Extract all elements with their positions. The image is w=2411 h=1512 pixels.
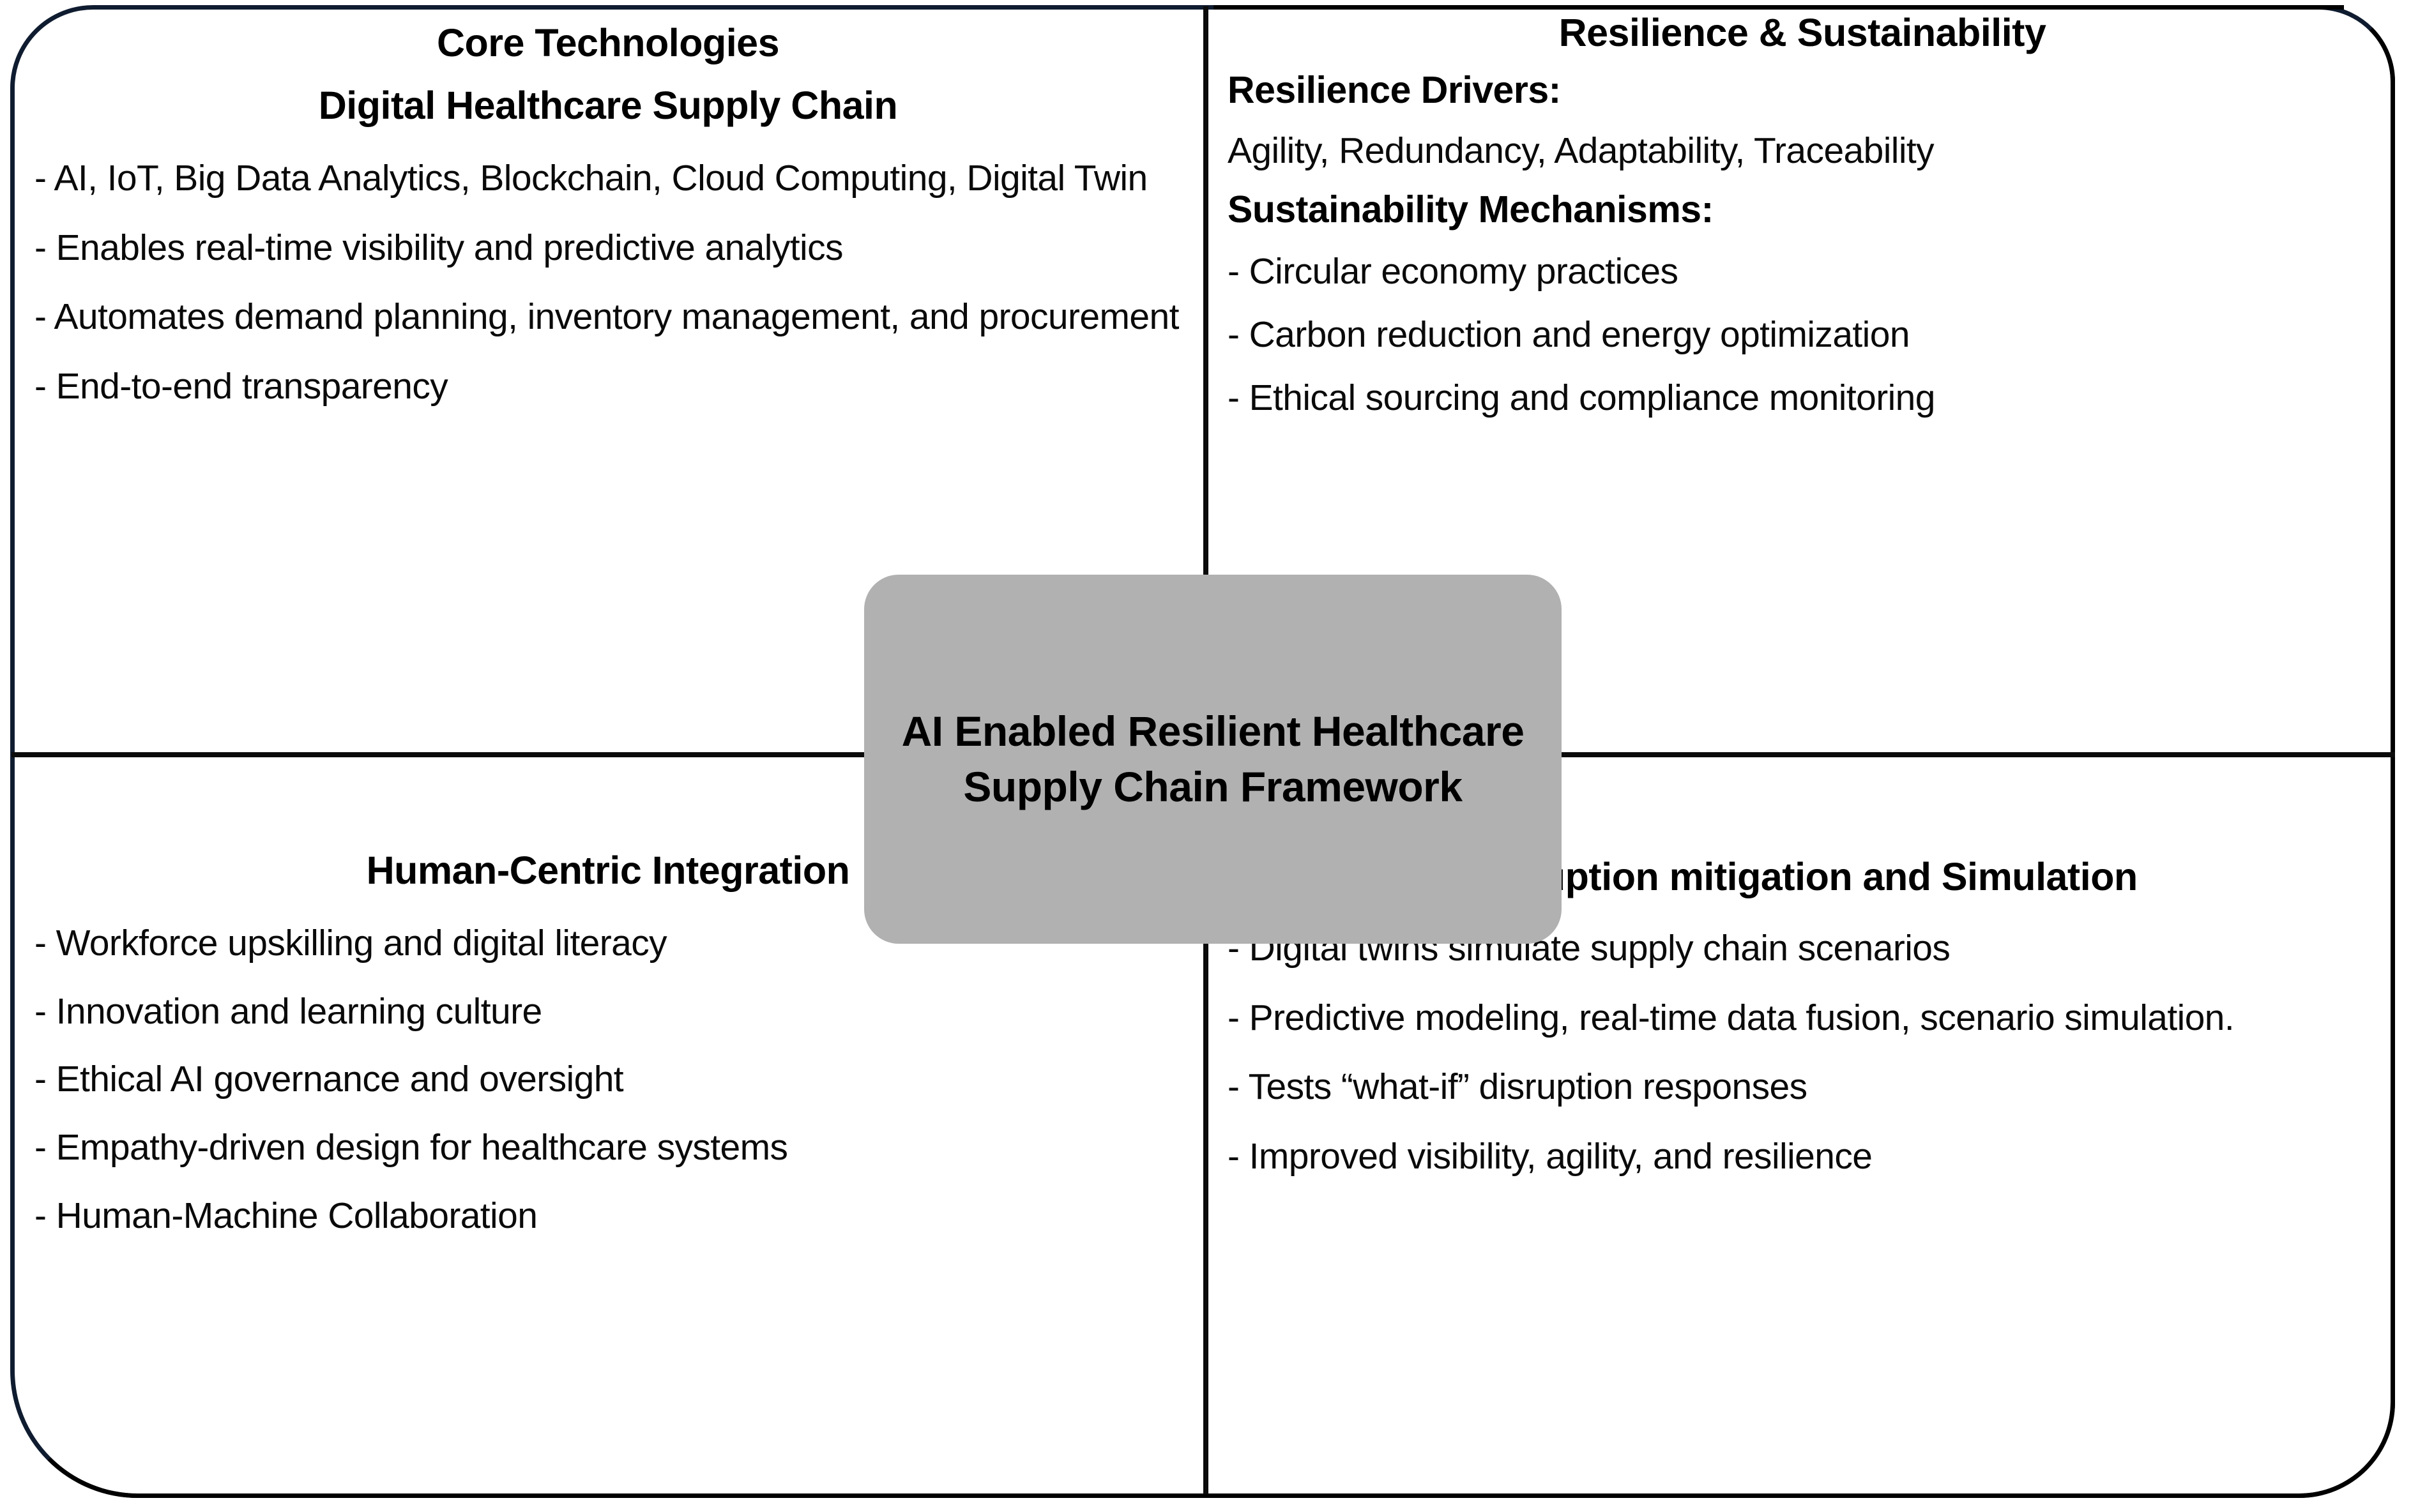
list-item: - Empathy-driven design for healthcare s… [34,1125,1182,1170]
center-node-label: AI Enabled Resilient Healthcare Supply C… [864,704,1562,815]
quadrant-title-resilience-sustainability: Resilience & Sustainability [1228,10,2377,56]
quadrant-subtitle-digital-healthcare-supply-chain: Digital Healthcare Supply Chain [34,83,1182,129]
section-text-resilience-drivers: Agility, Redundancy, Adaptability, Trace… [1228,128,2377,174]
list-item: - Predictive modeling, real-time data fu… [1228,995,2377,1041]
framework-diagram: Core Technologies Digital Healthcare Sup… [0,0,2411,1512]
list-item: - End-to-end transparency [34,364,1182,409]
list-item: - Human-Machine Collaboration [34,1193,1182,1239]
list-item: - Circular economy practices [1228,249,2377,294]
list-item: - Ethical sourcing and compliance monito… [1228,375,2377,421]
list-item: - Improved visibility, agility, and resi… [1228,1134,2377,1179]
quadrant-title-core-technologies: Core Technologies [34,20,1182,66]
list-item: - Ethical AI governance and oversight [34,1057,1182,1102]
section-heading-sustainability-mechanisms: Sustainability Mechanisms: [1228,187,2377,232]
list-item: - AI, IoT, Big Data Analytics, Blockchai… [34,156,1182,201]
list-item: - Carbon reduction and energy optimizati… [1228,312,2377,358]
list-item: - Enables real-time visibility and predi… [34,225,1182,271]
section-heading-resilience-drivers: Resilience Drivers: [1228,68,2377,113]
list-item: - Innovation and learning culture [34,989,1182,1034]
center-node-framework: AI Enabled Resilient Healthcare Supply C… [864,575,1562,944]
list-item: - Tests “what-if” disruption responses [1228,1064,2377,1110]
list-item: - Automates demand planning, inventory m… [34,294,1182,340]
